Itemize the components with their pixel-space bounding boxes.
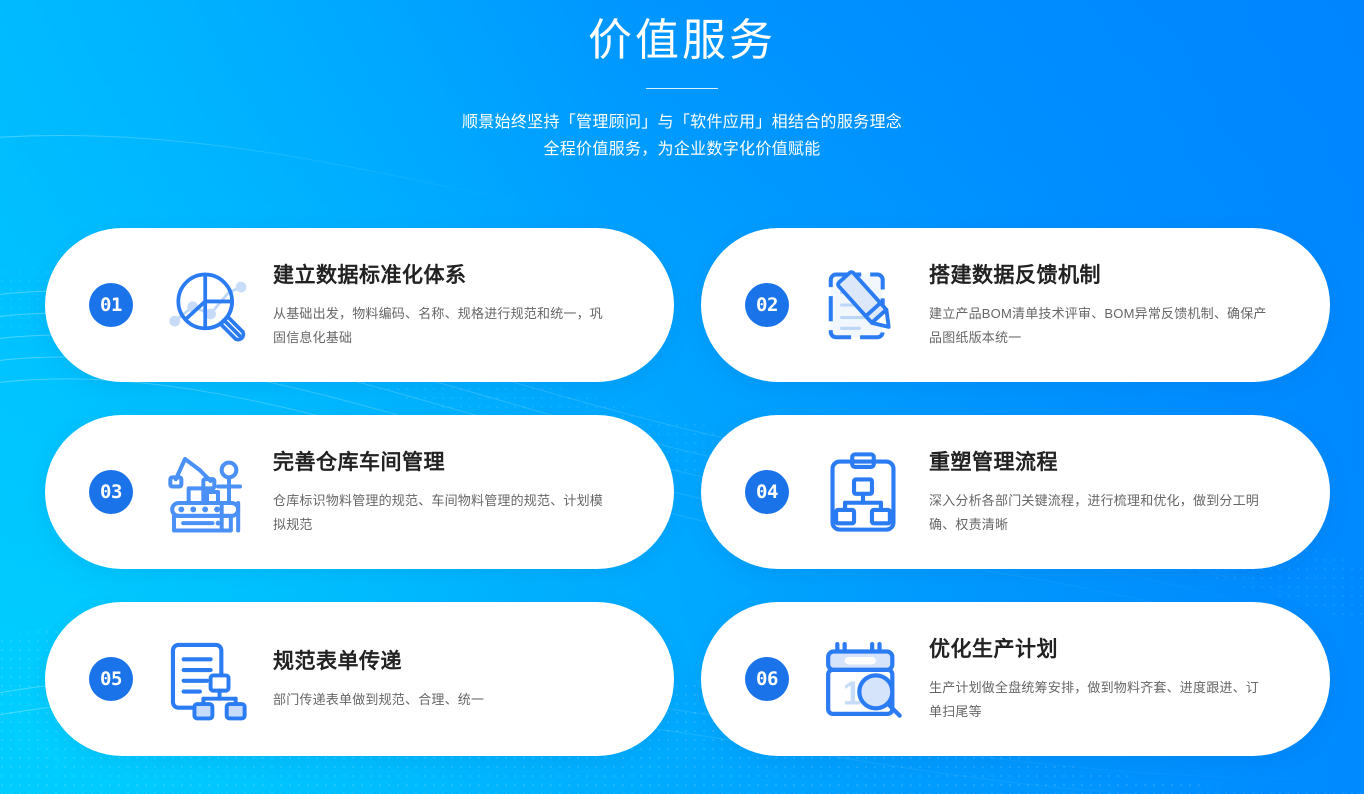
card-number-badge: 05 (89, 657, 133, 701)
service-card[interactable]: 05 规范表单传递 部门传递表单做到规范、合理、 (45, 602, 674, 756)
card-number-badge: 06 (745, 657, 789, 701)
card-description: 从基础出发，物料编码、名称、规格进行规范和统一，巩固信息化基础 (273, 302, 613, 350)
card-title: 建立数据标准化体系 (273, 261, 640, 291)
card-title: 搭建数据反馈机制 (929, 261, 1296, 291)
page-title: 价值服务 (0, 12, 1364, 70)
card-description: 生产计划做全盘统筹安排，做到物料齐套、进度跟进、订单扫尾等 (929, 676, 1269, 724)
card-text: 重塑管理流程 深入分析各部门关键流程，进行梳理和优化，做到分工明确、权责清晰 (915, 448, 1330, 537)
card-description: 建立产品BOM清单技术评审、BOM异常反馈机制、确保产品图纸版本统一 (929, 302, 1269, 350)
subtitle-line-2: 全程价值服务，为企业数字化价值赋能 (0, 136, 1364, 163)
card-number-badge: 02 (745, 283, 789, 327)
card-title: 规范表单传递 (273, 647, 640, 677)
note-pencil-icon (811, 253, 915, 357)
title-divider (646, 88, 718, 89)
card-number-badge: 01 (89, 283, 133, 327)
card-text: 搭建数据反馈机制 建立产品BOM清单技术评审、BOM异常反馈机制、确保产品图纸版… (915, 261, 1330, 350)
subtitle-line-1: 顺景始终坚持「管理顾问」与「软件应用」相结合的服务理念 (0, 109, 1364, 136)
service-card[interactable]: 04 重塑管理流程 深入分析各部门关键流程，进行梳理和优化，做到分工明确、权责清… (701, 415, 1330, 569)
service-card[interactable]: 02 搭建数据反馈机制 建立产品BOM清单技术评审、BOM异常反馈机制、确保产品… (701, 228, 1330, 382)
card-description: 深入分析各部门关键流程，进行梳理和优化，做到分工明确、权责清晰 (929, 489, 1269, 537)
card-text: 优化生产计划 生产计划做全盘统筹安排，做到物料齐套、进度跟进、订单扫尾等 (915, 635, 1330, 724)
service-card[interactable]: 03 (45, 415, 674, 569)
service-card-grid: 01 建立数据标准化体系 (45, 228, 1330, 756)
page-subtitle: 顺景始终坚持「管理顾问」与「软件应用」相结合的服务理念 全程价值服务，为企业数字… (0, 109, 1364, 163)
page-header: 价值服务 顺景始终坚持「管理顾问」与「软件应用」相结合的服务理念 全程价值服务，… (0, 0, 1364, 163)
clipboard-flowchart-icon (811, 440, 915, 544)
service-card[interactable]: 01 建立数据标准化体系 (45, 228, 674, 382)
pie-chart-magnifier-icon (155, 253, 259, 357)
card-text: 规范表单传递 部门传递表单做到规范、合理、统一 (259, 647, 674, 712)
card-text: 完善仓库车间管理 仓库标识物料管理的规范、车间物料管理的规范、计划模拟规范 (259, 448, 674, 537)
card-description: 部门传递表单做到规范、合理、统一 (273, 688, 613, 712)
card-title: 优化生产计划 (929, 635, 1296, 665)
document-orgchart-icon (155, 627, 259, 731)
card-text: 建立数据标准化体系 从基础出发，物料编码、名称、规格进行规范和统一，巩固信息化基… (259, 261, 674, 350)
service-card[interactable]: 06 11 优化生产计划 生产计划做全盘统筹安排，做到物料齐套、进度跟进、订 (701, 602, 1330, 756)
card-description: 仓库标识物料管理的规范、车间物料管理的规范、计划模拟规范 (273, 489, 613, 537)
card-title: 完善仓库车间管理 (273, 448, 640, 478)
calendar-magnifier-icon: 11 (811, 627, 915, 731)
card-number-badge: 04 (745, 470, 789, 514)
card-number-badge: 03 (89, 470, 133, 514)
card-title: 重塑管理流程 (929, 448, 1296, 478)
factory-conveyor-worker-icon (155, 440, 259, 544)
